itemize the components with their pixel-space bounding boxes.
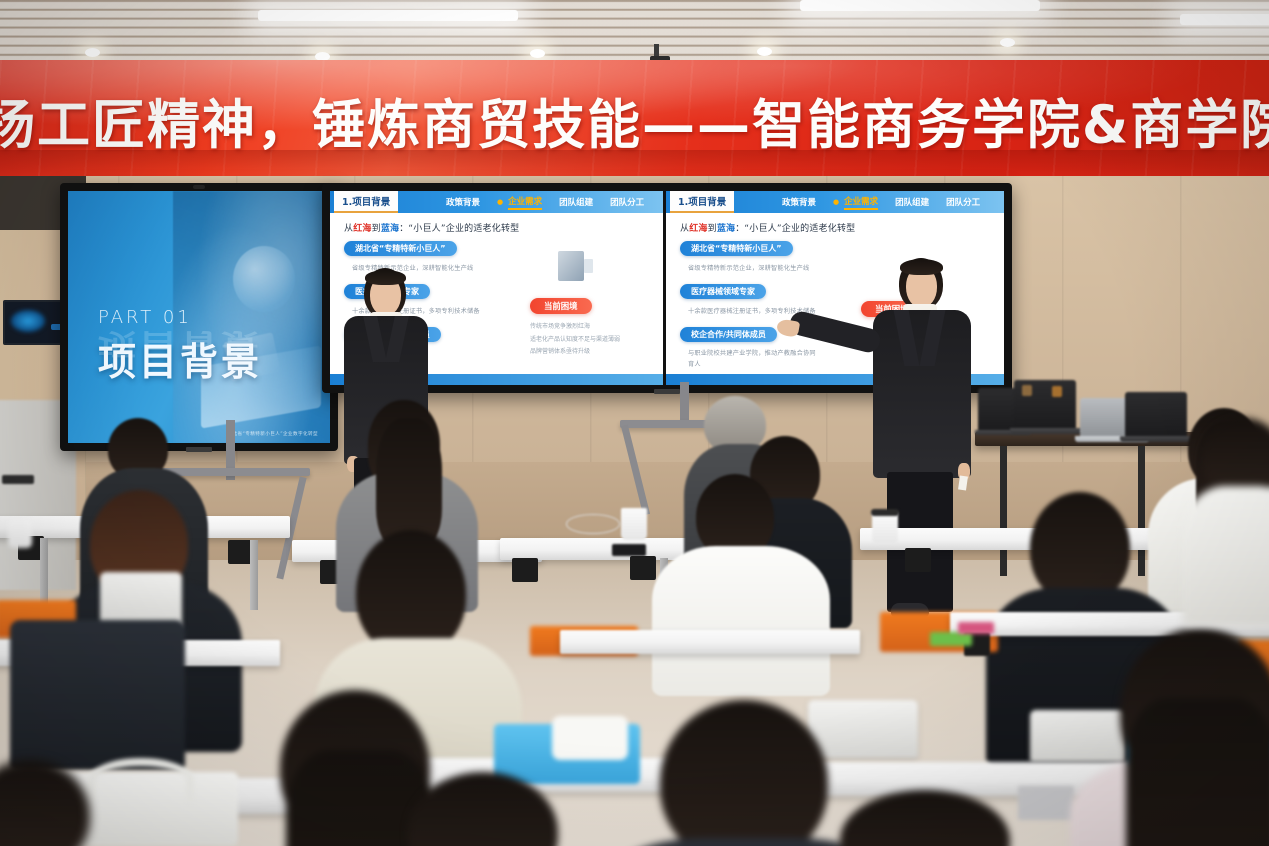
green-folder [930, 632, 972, 646]
phone-front-desk [1018, 786, 1074, 820]
heading-prefix-r: 从 [680, 224, 689, 234]
laptop-sticker-1 [1022, 385, 1032, 396]
product-image [558, 251, 584, 281]
pin-icon-right: ● [833, 198, 839, 206]
block-desc-1-right: 省级专精特新示范企业，深耕智能化生产线 [688, 263, 809, 272]
hair-long-fall [1126, 698, 1269, 846]
laptop-lid [1125, 392, 1187, 438]
laptop-base [1010, 428, 1082, 434]
downlight-3 [530, 49, 545, 58]
paper-cup-1 [621, 508, 647, 540]
equipment-table-leg-2 [1138, 446, 1145, 576]
wall-monitor-glow [11, 310, 45, 332]
highlight-bullets-left: 传统市场竞争激烈红海 适老化产品认知度不足与渠道薄弱 品牌营销体系亟待升级 [530, 321, 620, 359]
bullet-3: 品牌营销体系亟待升级 [530, 346, 620, 359]
slide-heading-left: 从红海到蓝海：“小巨人”企业的适老化转型 [344, 221, 519, 234]
podium-slot [2, 475, 34, 484]
stand-leg-right-a [621, 425, 650, 516]
slide-navbar-right: 1.项目背景 政策背景 ● 企业需求 团队组建 团队分工 [666, 191, 1004, 213]
nav-item-demand[interactable]: 企业需求 [508, 195, 542, 210]
heading-red-word-r: 红海 [689, 224, 707, 234]
heading-blue-word: 蓝海 [381, 224, 399, 234]
heading-prefix: 从 [344, 224, 353, 234]
slide-heading-right: 从红海到蓝海：“小巨人”企业的适老化转型 [680, 221, 855, 234]
laptop-base [1120, 436, 1194, 442]
phone-on-desk [612, 544, 646, 556]
pin-icon: ● [497, 198, 503, 206]
chair-2[interactable] [808, 700, 918, 758]
classroom-scene: 扬工匠精神，锤炼商贸技能——智能商务学院&商学院2025年“一院一赛”商贸 PA… [0, 0, 1269, 846]
stand-column-right [680, 382, 689, 422]
slide-nav-items: 政策背景 ● 企业需求 团队组建 团队分工 [446, 191, 644, 213]
nav-item-policy[interactable]: 政策背景 [446, 196, 480, 208]
downlight-5 [1000, 38, 1015, 47]
slide-footer-text: 湖北省“专精特新小巨人”企业数字化转型 [228, 431, 318, 437]
desk-clamp-6 [905, 548, 931, 572]
cable-coil [566, 514, 620, 534]
heading-red-word: 红海 [353, 224, 371, 234]
display-camera-icon [193, 185, 205, 189]
backpack-on-desk [10, 620, 185, 770]
presenter-right-blazer [873, 310, 971, 478]
slide-part-01: PART 01 项目背景 项目背景 湖北省“专精特新小巨人”企业数字化转型 [68, 191, 330, 443]
bullet-2: 适老化产品认知度不足与渠道薄弱 [530, 334, 620, 347]
pink-folder [958, 622, 994, 634]
block-desc-3-right: 与职业院校共建产业学院，推动产教融合协同育人 [688, 349, 818, 370]
laptop-sticker-2 [1052, 386, 1062, 397]
slide-photo-shape-1 [233, 246, 295, 312]
paper-cup-2 [872, 512, 898, 544]
body [652, 546, 830, 696]
body [1182, 486, 1269, 626]
left-display-screen: PART 01 项目背景 项目背景 湖北省“专精特新小巨人”企业数字化转型 [68, 191, 330, 443]
hair-long [376, 418, 442, 548]
downlight-1 [85, 48, 100, 57]
nav-item-demand-right[interactable]: 企业需求 [844, 195, 878, 210]
presenter-left-hair-front [365, 270, 406, 285]
heading-blue-word-r: 蓝海 [717, 224, 735, 234]
banner-text: 扬工匠精神，锤炼商贸技能——智能商务学院&商学院2025年“一院一赛”商贸 [0, 83, 1269, 159]
nav-item-roles-right[interactable]: 团队分工 [946, 196, 980, 208]
slide-section-title: 1.项目背景 [334, 191, 398, 213]
equipment-table-leg-1 [1000, 446, 1007, 576]
desk-row-1-right [860, 528, 1190, 550]
presenter-right-hair-front [900, 259, 943, 275]
heading-suffix: ：“小巨人”企业的适老化转型 [399, 224, 519, 234]
block-pill-3-right: 校企合作/共同体成员 [680, 327, 777, 342]
heading-mid-r: 到 [708, 224, 717, 234]
slide-title-reflection: 项目背景 [98, 326, 262, 367]
chair-3[interactable] [1030, 710, 1126, 762]
paper-cup-3 [8, 520, 32, 548]
desk-clamp-4 [512, 558, 538, 582]
slide-section-title-right: 1.项目背景 [670, 191, 734, 213]
tote-bag-handle [88, 758, 194, 802]
strip-light-1 [258, 10, 518, 21]
desk-leg-1 [40, 538, 48, 608]
slide-navbar-left: 1.项目背景 政策背景 ● 企业需求 团队组建 团队分工 [330, 191, 663, 213]
desk-leg-2 [250, 540, 258, 610]
downlight-4 [757, 47, 772, 56]
presenter-right-paper [958, 476, 968, 491]
nav-item-roles[interactable]: 团队分工 [610, 196, 644, 208]
strip-light-2 [800, 0, 1040, 11]
banner-shadow [0, 150, 1269, 178]
white-tissue [552, 716, 628, 760]
strip-light-3 [1180, 14, 1269, 25]
nav-item-policy-right[interactable]: 政策背景 [782, 196, 816, 208]
heading-suffix-r: ：“小巨人”企业的适老化转型 [735, 224, 855, 234]
nav-item-team[interactable]: 团队组建 [559, 196, 593, 208]
block-pill-1: 湖北省“专精特新小巨人” [344, 241, 457, 256]
heading-mid: 到 [372, 224, 381, 234]
block-pill-1-right: 湖北省“专精特新小巨人” [680, 241, 793, 256]
paper-cup-2-lid [871, 509, 899, 516]
desk-clamp-5 [630, 556, 656, 580]
left-display[interactable]: PART 01 项目背景 项目背景 湖北省“专精特新小巨人”企业数字化转型 [60, 183, 338, 451]
slide-photo [173, 191, 330, 443]
nav-item-team-right[interactable]: 团队组建 [895, 196, 929, 208]
bullet-1: 传统市场竞争激烈红海 [530, 321, 620, 334]
highlight-pill-left: 当前困境 [530, 298, 592, 314]
desk-row-2-mid [560, 630, 860, 654]
block-pill-2-right: 医疗器械领域专家 [680, 284, 766, 299]
slide-nav-items-right: 政策背景 ● 企业需求 团队组建 团队分工 [782, 191, 980, 213]
